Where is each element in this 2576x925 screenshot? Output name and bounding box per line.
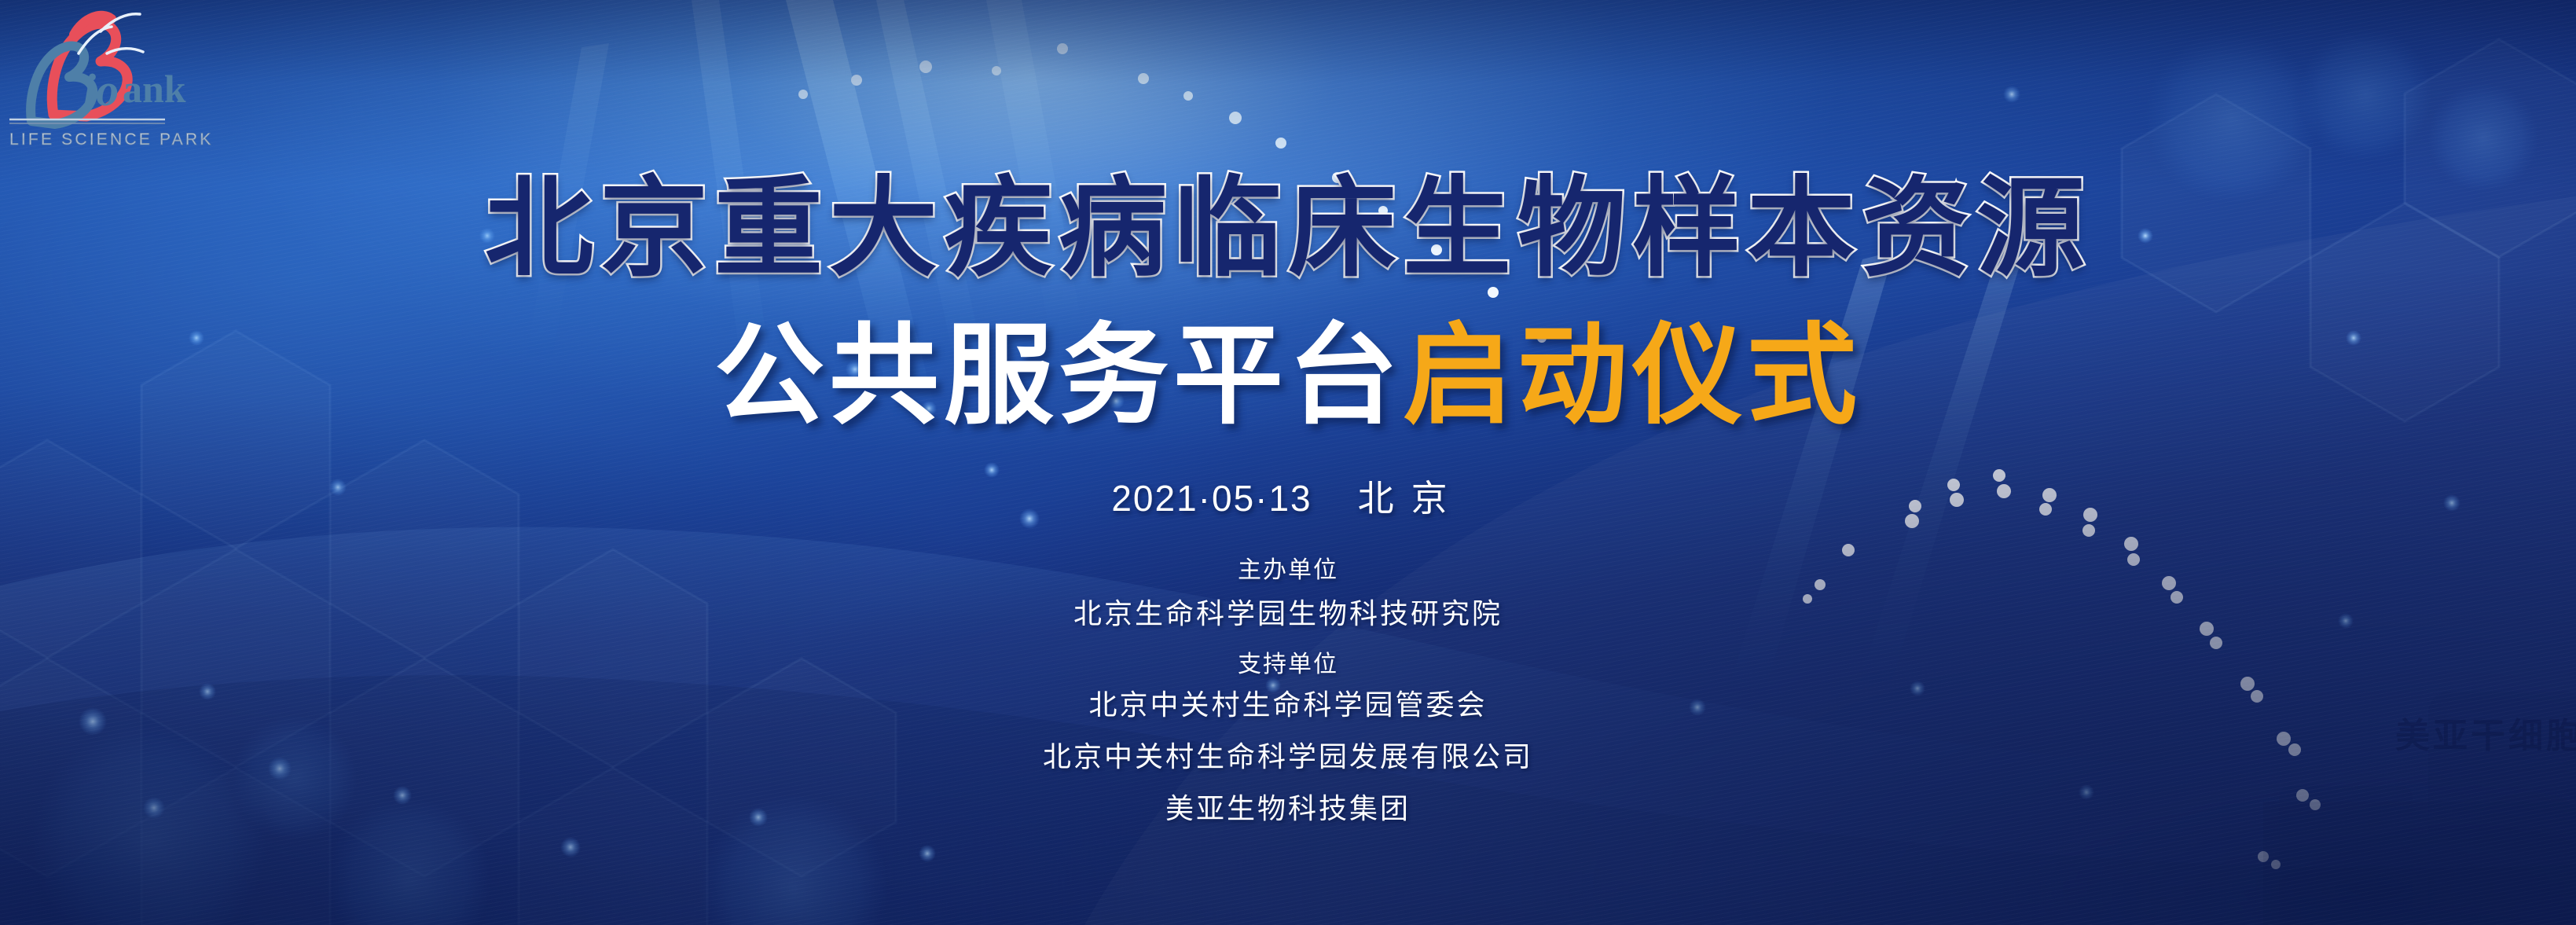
logo-tagline: LIFE SCIENCE PARK xyxy=(9,130,213,149)
molecular-hexagon-pattern xyxy=(0,0,2576,925)
event-banner: 美亚干细胞 xyxy=(0,0,2576,925)
logo-ank-text: ank xyxy=(123,67,186,111)
biobank-logo[interactable]: io ank LIFE SCIENCE PARK xyxy=(8,5,267,154)
logo-io-text: io xyxy=(83,64,119,116)
